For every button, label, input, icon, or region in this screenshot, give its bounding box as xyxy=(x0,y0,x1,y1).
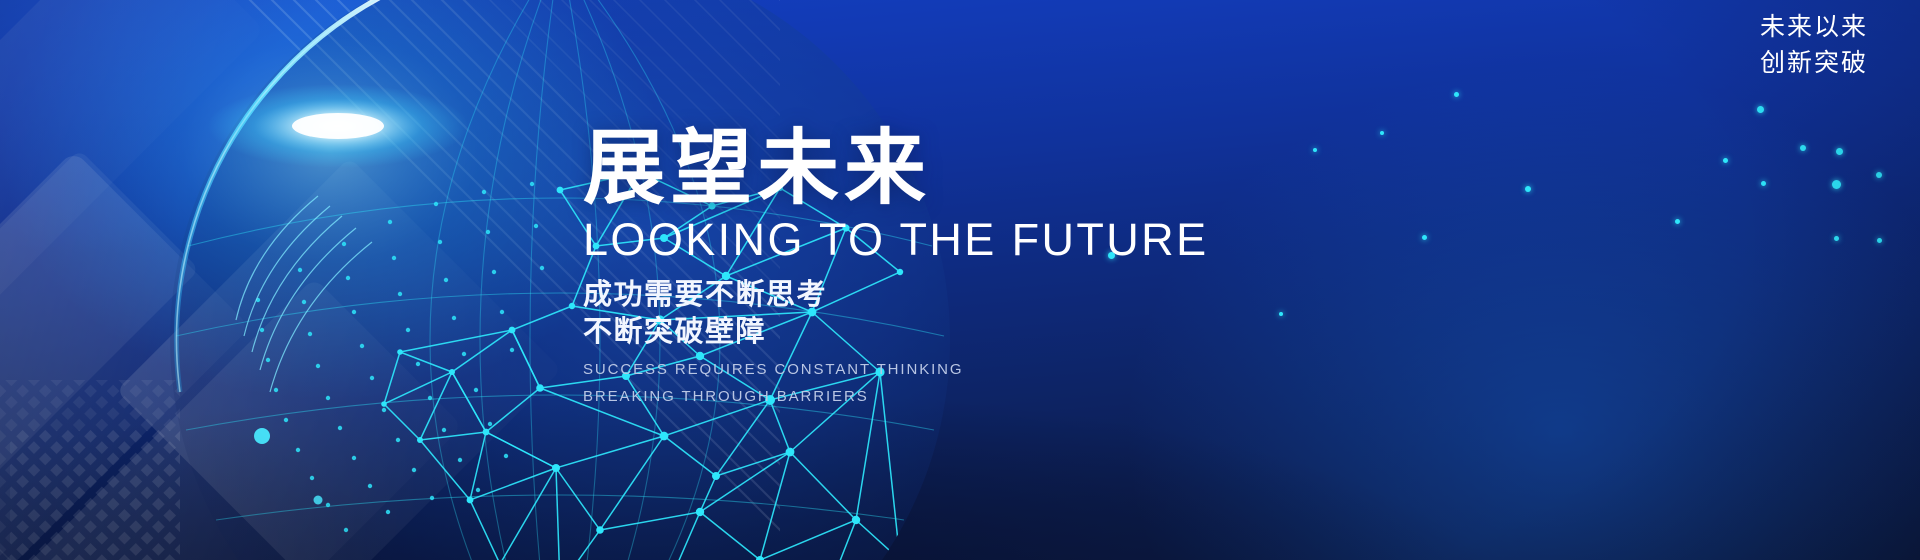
subtitle-english-block: SUCCESS REQUIRES CONSTANT THINKING BREAK… xyxy=(583,357,1343,410)
subtitle-chinese-line-2: 不断突破壁障 xyxy=(583,314,1343,351)
subtitle-english-line-2: BREAKING THROUGH BARRIERS xyxy=(583,384,1343,410)
headline-chinese: 展望未来 xyxy=(583,128,1343,210)
banner-root: 未来以来 创新突破 展望未来 LOOKING TO THE FUTURE 成功需… xyxy=(0,0,1920,560)
corner-slogan-line-1: 未来以来 xyxy=(1760,10,1868,46)
main-text-block: 展望未来 LOOKING TO THE FUTURE 成功需要不断思考 不断突破… xyxy=(583,128,1343,410)
corner-slogan: 未来以来 创新突破 xyxy=(1760,10,1868,81)
subtitle-chinese-block: 成功需要不断思考 不断突破壁障 xyxy=(583,277,1343,350)
subtitle-english-line-1: SUCCESS REQUIRES CONSTANT THINKING xyxy=(583,357,1343,383)
corner-slogan-line-2: 创新突破 xyxy=(1760,46,1868,82)
headline-english: LOOKING TO THE FUTURE xyxy=(583,216,1343,263)
subtitle-chinese-line-1: 成功需要不断思考 xyxy=(583,277,1343,314)
